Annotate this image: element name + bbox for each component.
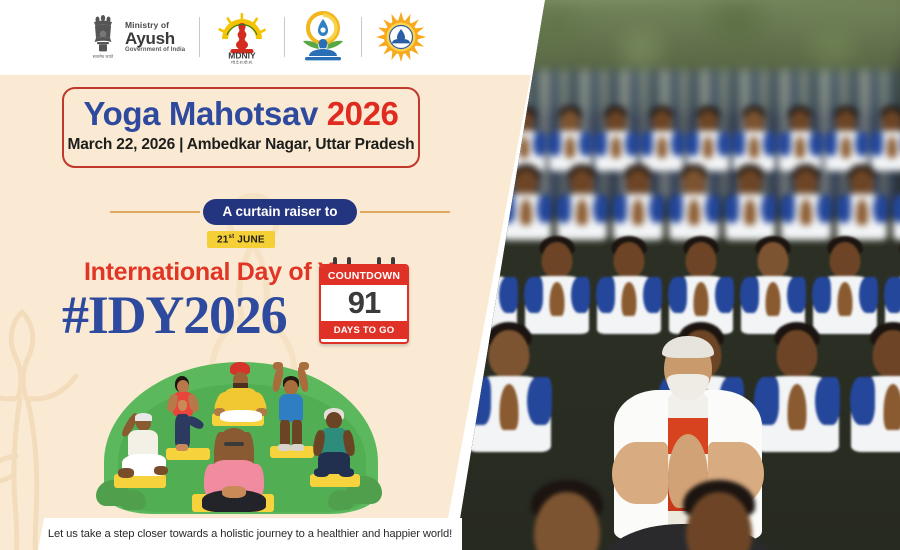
countdown-footer: DAYS TO GO [321, 321, 407, 339]
logo-bar: सत्यमेव जयते Ministry of Ayush Governmen… [88, 6, 426, 68]
sunburst-emblem-icon [376, 12, 426, 62]
logo-international-day-of-yoga [299, 8, 347, 66]
yoga-mahotsav-poster: सत्यमेव जयते Ministry of Ayush Governmen… [0, 0, 900, 550]
logo-divider [199, 17, 200, 57]
countdown-days: 91 [321, 285, 407, 321]
logo-ayush-sunburst-emblem [376, 8, 426, 66]
june-day: 21 [217, 234, 229, 245]
event-title: Yoga Mahotsav 2026 [64, 95, 418, 133]
mdniy-icon: MDNIY मो.दे.रा.यो.सं. [214, 9, 270, 65]
countdown-header: COUNTDOWN [321, 266, 407, 285]
yoga-mat [166, 448, 210, 460]
yoga-group-illustration [96, 348, 386, 524]
idy-yoga-figure-icon [299, 9, 347, 65]
curtain-raiser-pill: A curtain raiser to [203, 199, 356, 225]
june-date-badge: 21st JUNE [207, 231, 275, 248]
countdown-calendar: COUNTDOWN 91 DAYS TO GO [319, 262, 409, 344]
mdniy-sub: मो.दे.रा.यो.सं. [231, 60, 253, 65]
event-title-box: Yoga Mahotsav 2026 March 22, 2026 | Ambe… [62, 87, 420, 168]
curtain-raiser-banner: A curtain raiser to [110, 200, 450, 224]
ayush-motto: सत्यमेव जयते [93, 54, 114, 59]
mdniy-label: MDNIY [229, 51, 257, 61]
tagline-text: Let us take a step closer towards a holi… [48, 528, 452, 540]
tagline-strip: Let us take a step closer towards a holi… [38, 518, 462, 550]
curtain-raiser-rule-right [360, 211, 450, 213]
ashoka-emblem-icon: सत्यमेव जयते [88, 12, 118, 62]
event-subtitle: March 22, 2026 | Ambedkar Nagar, Uttar P… [64, 136, 418, 154]
june-suffix: st [229, 234, 235, 240]
illustration-bush [328, 490, 354, 510]
event-title-main: Yoga Mahotsav [84, 95, 318, 132]
logo-ministry-of-ayush: सत्यमेव जयते Ministry of Ayush Governmen… [88, 8, 185, 66]
ayush-line3: Government of India [125, 47, 185, 53]
idy-hashtag: #IDY2026 [62, 284, 286, 346]
curtain-raiser-rule-left [110, 211, 200, 213]
logo-mdniy: MDNIY मो.दे.रा.यो.सं. [214, 8, 270, 66]
june-month: JUNE [237, 234, 264, 245]
illustration-bush [120, 490, 146, 510]
event-title-year: 2026 [327, 95, 399, 132]
logo-divider [361, 17, 362, 57]
logo-divider [284, 17, 285, 57]
ayush-line2: Ayush [125, 30, 185, 47]
